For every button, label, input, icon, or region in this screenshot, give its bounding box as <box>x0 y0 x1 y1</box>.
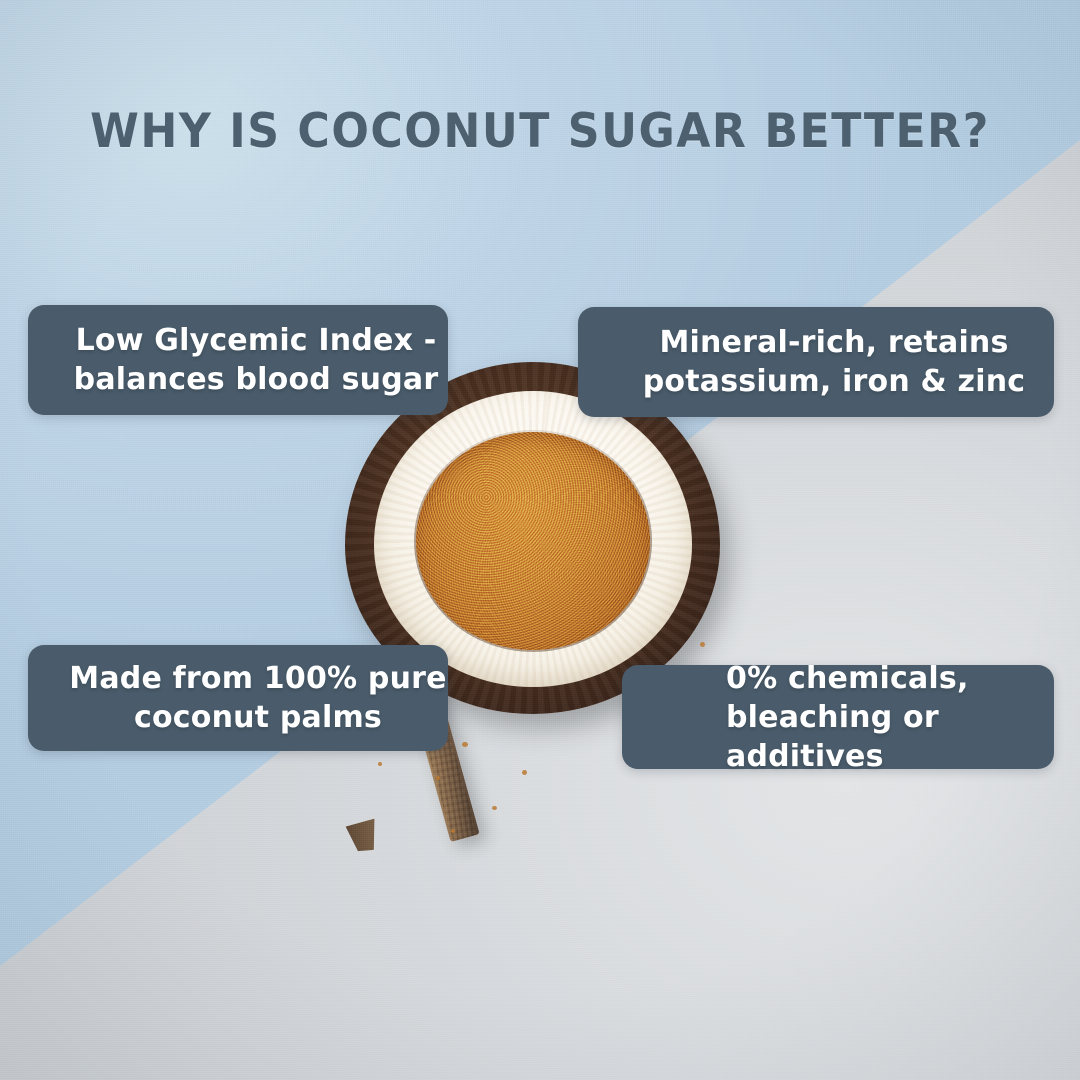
callout-no-chemicals-text: 0% chemicals, bleaching or additives <box>622 659 1054 776</box>
callout-line-2: balances blood sugar <box>46 360 466 399</box>
callout-no-chemicals[interactable]: 0% chemicals, bleaching or additives <box>622 665 1054 769</box>
callout-line-1: 0% chemicals, <box>674 659 1080 698</box>
callout-pure-coconut-palms[interactable]: Made from 100% pure coconut palms <box>28 645 448 751</box>
infographic-canvas: WHY IS COCONUT SUGAR BETTER? Low Glycemi… <box>0 0 1080 1080</box>
callout-line-1: Mineral-rich, retains <box>596 323 1072 362</box>
callout-low-glycemic-index[interactable]: Low Glycemic Index - balances blood suga… <box>28 305 448 415</box>
callout-line-2: potassium, iron & zinc <box>596 362 1072 401</box>
callout-pure-coconut-palms-text: Made from 100% pure coconut palms <box>28 659 448 737</box>
page-title: WHY IS COCONUT SUGAR BETTER? <box>32 104 1047 159</box>
callout-mineral-rich-text: Mineral-rich, retains potassium, iron & … <box>578 323 1054 401</box>
callout-line-1: Made from 100% pure <box>48 659 468 698</box>
callout-low-glycemic-index-text: Low Glycemic Index - balances blood suga… <box>28 321 448 399</box>
callout-line-2: bleaching or additives <box>674 698 1080 776</box>
callout-mineral-rich[interactable]: Mineral-rich, retains potassium, iron & … <box>578 307 1054 417</box>
callout-line-1: Low Glycemic Index - <box>46 321 466 360</box>
callout-line-2: coconut palms <box>48 698 468 737</box>
